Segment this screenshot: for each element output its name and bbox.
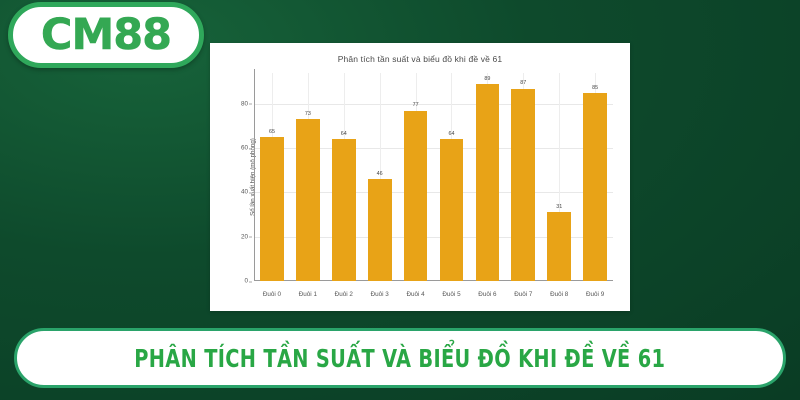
bar-value-label: 85 <box>592 86 598 91</box>
x-axis-labels: Đuôi 0Đuôi 1Đuôi 2Đuôi 3Đuôi 4Đuôi 5Đuôi… <box>254 291 613 298</box>
y-tick-label: 20 <box>241 233 248 240</box>
bar-series: 65736446776489873185 <box>254 73 613 281</box>
bar[interactable] <box>583 93 607 281</box>
bar-slot[interactable]: 87 <box>505 73 541 281</box>
x-tick-label: Đuôi 9 <box>577 291 613 298</box>
x-tick-label: Đuôi 0 <box>254 291 290 298</box>
bar-value-label: 64 <box>341 132 347 137</box>
headline-text: PHÂN TÍCH TẦN SUẤT VÀ BIỂU ĐỒ KHI ĐỀ VỀ … <box>134 344 665 373</box>
x-tick-label: Đuôi 2 <box>326 291 362 298</box>
cm88-logo[interactable]: CM88 <box>8 2 204 68</box>
x-tick-label: Đuôi 6 <box>469 291 505 298</box>
bar-value-label: 89 <box>484 77 490 82</box>
logo-text: CM88 <box>41 14 171 57</box>
y-axis-ticks: 020406080 <box>228 73 252 281</box>
bar[interactable] <box>511 89 535 282</box>
bar-slot[interactable]: 89 <box>469 73 505 281</box>
y-tick-label: 40 <box>241 189 248 196</box>
bar-slot[interactable]: 64 <box>326 73 362 281</box>
bar-slot[interactable]: 85 <box>577 73 613 281</box>
chart-card: Phân tích tần suất và biểu đồ khi đề về … <box>210 43 630 311</box>
y-tick-label: 0 <box>244 278 248 285</box>
x-tick-label: Đuôi 1 <box>290 291 326 298</box>
bar[interactable] <box>368 179 392 281</box>
bar[interactable] <box>547 212 571 281</box>
bar[interactable] <box>440 139 464 281</box>
x-tick-label: Đuôi 8 <box>541 291 577 298</box>
headline-banner: PHÂN TÍCH TẦN SUẤT VÀ BIỂU ĐỒ KHI ĐỀ VỀ … <box>14 328 786 388</box>
chart-title: Phân tích tần suất và biểu đồ khi đề về … <box>210 43 630 64</box>
bar-value-label: 87 <box>520 81 526 86</box>
bar-value-label: 73 <box>305 112 311 117</box>
bar[interactable] <box>260 137 284 281</box>
bar[interactable] <box>476 84 500 281</box>
bar-value-label: 65 <box>269 130 275 135</box>
bar-slot[interactable]: 77 <box>398 73 434 281</box>
x-tick-label: Đuôi 5 <box>434 291 470 298</box>
x-tick-label: Đuôi 4 <box>398 291 434 298</box>
bar-value-label: 64 <box>448 132 454 137</box>
plot-area: 65736446776489873185 <box>254 73 613 281</box>
y-tick-label: 80 <box>241 100 248 107</box>
bar-value-label: 77 <box>413 103 419 108</box>
bar-slot[interactable]: 31 <box>541 73 577 281</box>
x-tick-label: Đuôi 7 <box>505 291 541 298</box>
x-tick-label: Đuôi 3 <box>362 291 398 298</box>
bar-slot[interactable]: 65 <box>254 73 290 281</box>
bar-slot[interactable]: 73 <box>290 73 326 281</box>
bar[interactable] <box>404 111 428 281</box>
bar[interactable] <box>332 139 356 281</box>
bar-slot[interactable]: 46 <box>362 73 398 281</box>
y-tick-label: 60 <box>241 145 248 152</box>
bar-value-label: 46 <box>377 172 383 177</box>
bar-slot[interactable]: 64 <box>434 73 470 281</box>
bar[interactable] <box>296 119 320 281</box>
bar-value-label: 31 <box>556 205 562 210</box>
